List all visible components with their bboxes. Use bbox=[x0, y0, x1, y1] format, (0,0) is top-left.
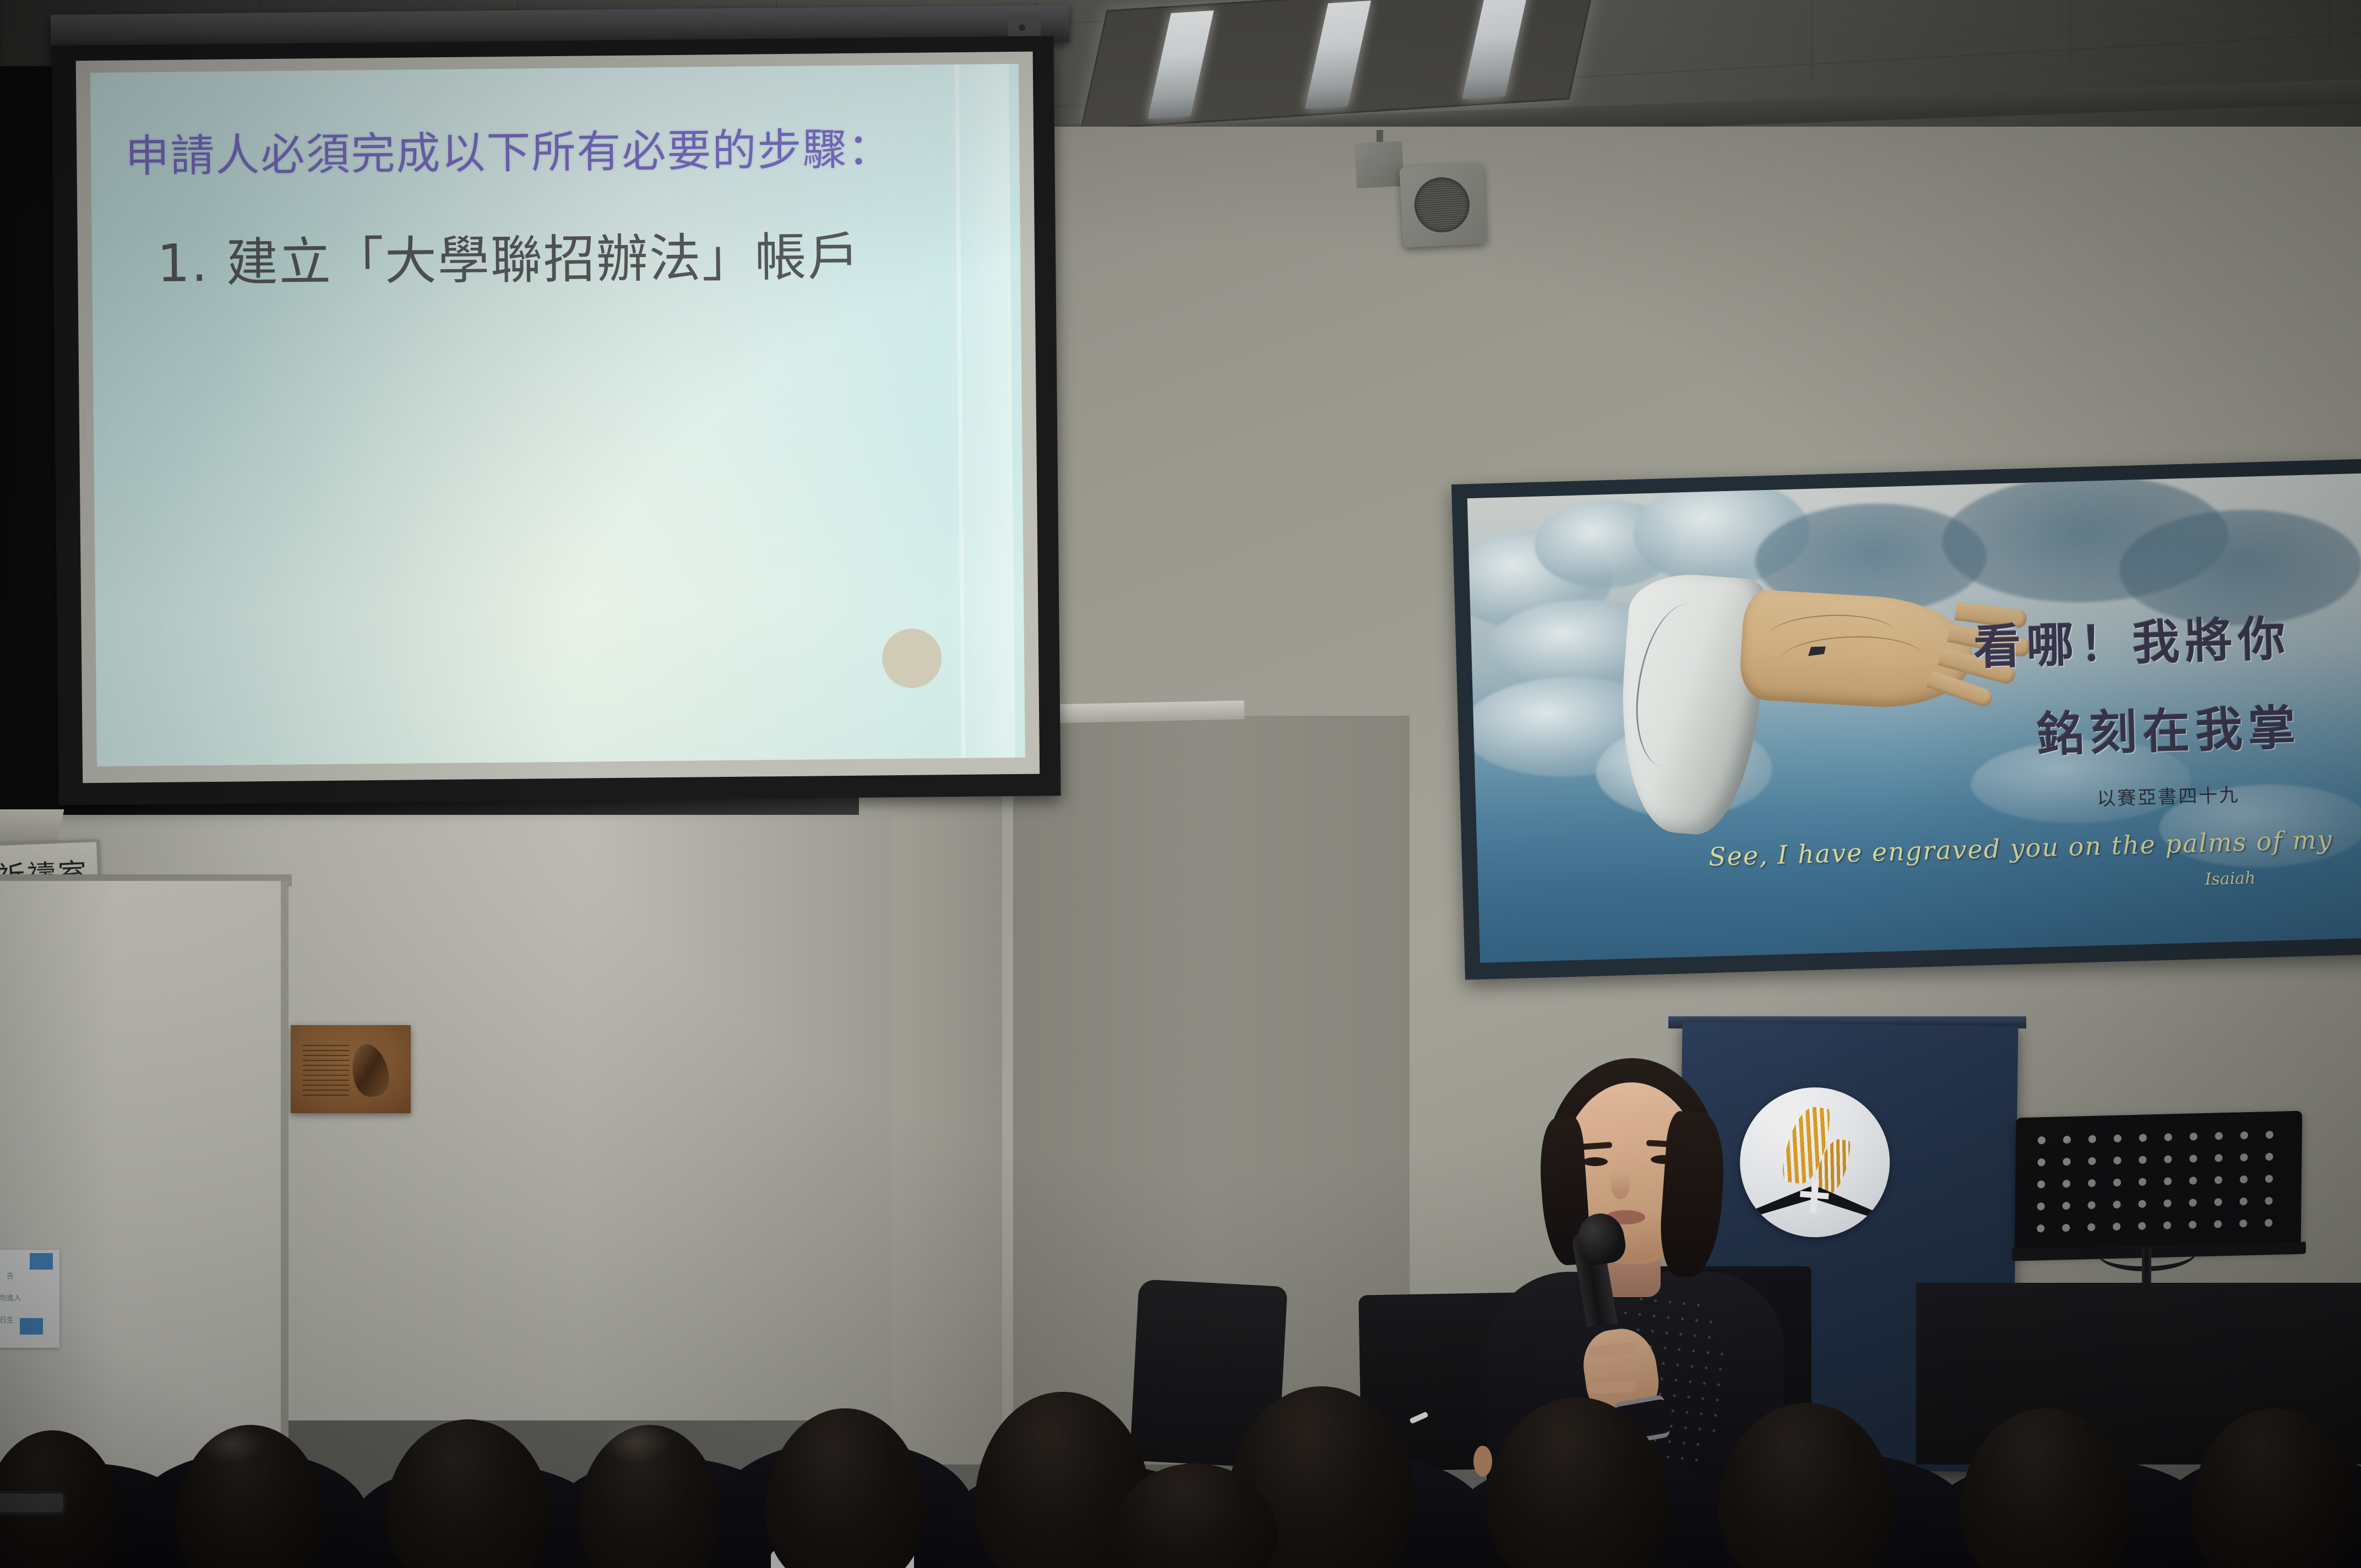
blue-tape-icon bbox=[30, 1253, 53, 1270]
audience-head bbox=[385, 1419, 551, 1568]
eyeglasses-icon bbox=[0, 1491, 66, 1515]
presenter-nose bbox=[1611, 1170, 1630, 1199]
screen-case-knob bbox=[1019, 24, 1025, 31]
light-tube bbox=[1148, 10, 1214, 119]
slide-decoration-circle bbox=[882, 628, 942, 688]
isaiah-wall-artwork: 看哪！我將你 銘刻在我掌 以賽亞書四十九 See, I have engrave… bbox=[1451, 459, 2361, 980]
artwork-canvas: 看哪！我將你 銘刻在我掌 以賽亞書四十九 See, I have engrave… bbox=[1467, 473, 2361, 963]
praying-hands-icon bbox=[347, 1041, 393, 1099]
audience-head bbox=[1960, 1408, 2131, 1568]
artwork-chinese-line-1: 看哪！我將你 bbox=[1973, 600, 2292, 678]
projected-slide: 申請人必須完成以下所有必要的步驟： 1. 建立「大學聯招辦法」帳戶 bbox=[90, 64, 1025, 766]
audience-head bbox=[2191, 1408, 2357, 1568]
speaker-mount-bracket bbox=[1354, 141, 1404, 188]
slide-bullet-item-1: 1. 建立「大學聯招辦法」帳戶 bbox=[157, 214, 1016, 297]
wall-speaker-icon bbox=[1399, 163, 1487, 248]
notice-line-3: 值日生 bbox=[0, 1315, 56, 1326]
ear bbox=[1473, 1446, 1492, 1477]
light-tube bbox=[1462, 0, 1528, 99]
assembly-hall-scene: 申請人必須完成以下所有必要的步驟： 1. 建立「大學聯招辦法」帳戶 祈禱室 通 … bbox=[0, 0, 2361, 1568]
hair-highlight bbox=[600, 1419, 672, 1463]
slide-title: 申請人必須完成以下所有必要的步驟： bbox=[125, 113, 984, 185]
speaker-cone bbox=[1413, 176, 1471, 234]
artwork-chinese-reference: 以賽亞書四十九 bbox=[2097, 780, 2240, 810]
hair-clip-icon bbox=[1409, 1412, 1428, 1424]
audience-head bbox=[1718, 1403, 1894, 1568]
music-stand-perforations bbox=[2028, 1123, 2289, 1239]
artwork-chinese-line-2: 銘刻在我掌 bbox=[2036, 689, 2302, 765]
artwork-frame: 看哪！我將你 銘刻在我掌 以賽亞書四十九 See, I have engrave… bbox=[1451, 459, 2361, 980]
notice-line-1: 通 告 bbox=[0, 1271, 56, 1282]
open-bible-icon bbox=[1814, 1184, 1875, 1217]
light-tube bbox=[1305, 1, 1371, 109]
projection-screen: 申請人必須完成以下所有必要的步驟： 1. 建立「大學聯招辦法」帳戶 bbox=[51, 36, 1060, 805]
wooden-praying-hands-plaque bbox=[291, 1025, 411, 1113]
plaque-inscription-lines bbox=[303, 1045, 349, 1098]
presenter-eye bbox=[1582, 1157, 1608, 1166]
audience-head bbox=[1487, 1397, 1668, 1568]
hair-highlight bbox=[198, 1425, 264, 1463]
notice-line-2: 請勿進入 bbox=[0, 1293, 56, 1304]
artwork-english-reference: Isaiah bbox=[2205, 869, 2256, 890]
audience bbox=[0, 1332, 2361, 1568]
presenter-hair-side bbox=[1657, 1110, 1728, 1280]
audience-head bbox=[765, 1408, 925, 1568]
prayer-room-sign-bracket bbox=[0, 809, 64, 843]
projection-screen-border: 申請人必須完成以下所有必要的步驟： 1. 建立「大學聯招辦法」帳戶 bbox=[76, 52, 1040, 783]
